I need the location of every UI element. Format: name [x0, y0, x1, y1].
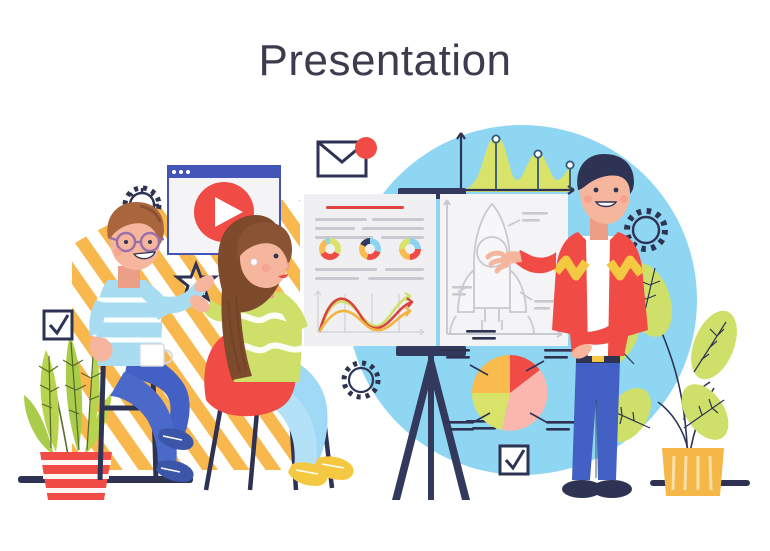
shoe-right: [592, 480, 632, 498]
coffee-cup: [140, 344, 164, 366]
slide-charts: [304, 194, 436, 346]
checkbox-bottom-icon[interactable]: [500, 446, 528, 474]
illustration-canvas: Presentation: [0, 0, 770, 551]
eye-left: [594, 188, 599, 193]
donut-1: [319, 238, 341, 260]
floor-line: [18, 476, 750, 486]
eye: [274, 254, 279, 259]
earring: [251, 259, 257, 265]
gear-center-icon: [344, 363, 378, 397]
notification-badge-icon: [355, 137, 377, 159]
donut-2: [359, 238, 381, 260]
donut-3: [399, 238, 421, 260]
presentation-illustration: [0, 0, 770, 551]
envelope-icon[interactable]: [318, 137, 377, 176]
checkbox-left-icon[interactable]: [44, 311, 72, 339]
eye-right: [614, 188, 619, 193]
